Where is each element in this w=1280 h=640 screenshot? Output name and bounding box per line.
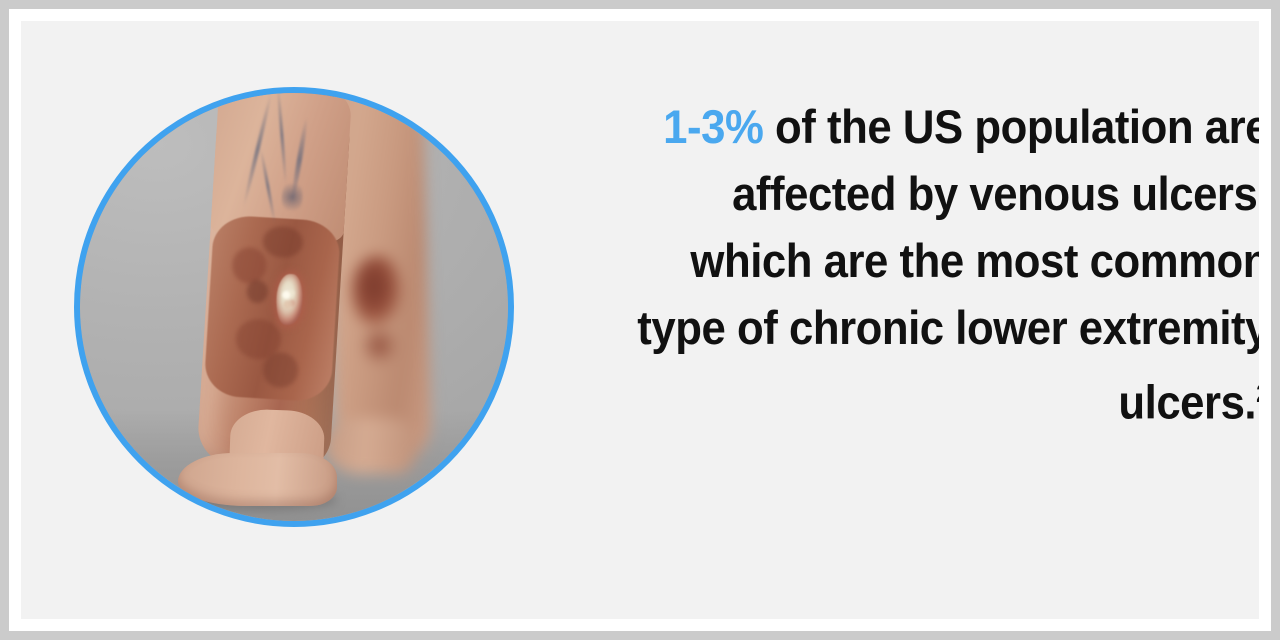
ulcer-granulation-tissue xyxy=(281,285,298,315)
slide-content-panel: 1-3% of the US population are affected b… xyxy=(21,21,1259,619)
right-leg-lesion xyxy=(352,256,401,329)
statistic-value: 1-3% xyxy=(663,100,763,153)
footnote-reference-marker: 2 xyxy=(1256,380,1259,408)
slide-inner-white-border: 1-3% of the US population are affected b… xyxy=(9,9,1271,631)
clinical-photo-circle xyxy=(74,87,514,527)
right-foot xyxy=(325,418,415,474)
clinical-photo-image xyxy=(80,93,508,521)
statistic-text-block: 1-3% of the US population are affected b… xyxy=(601,93,1259,436)
slide-root: 1-3% of the US population are affected b… xyxy=(0,0,1280,640)
left-foot xyxy=(178,453,336,507)
